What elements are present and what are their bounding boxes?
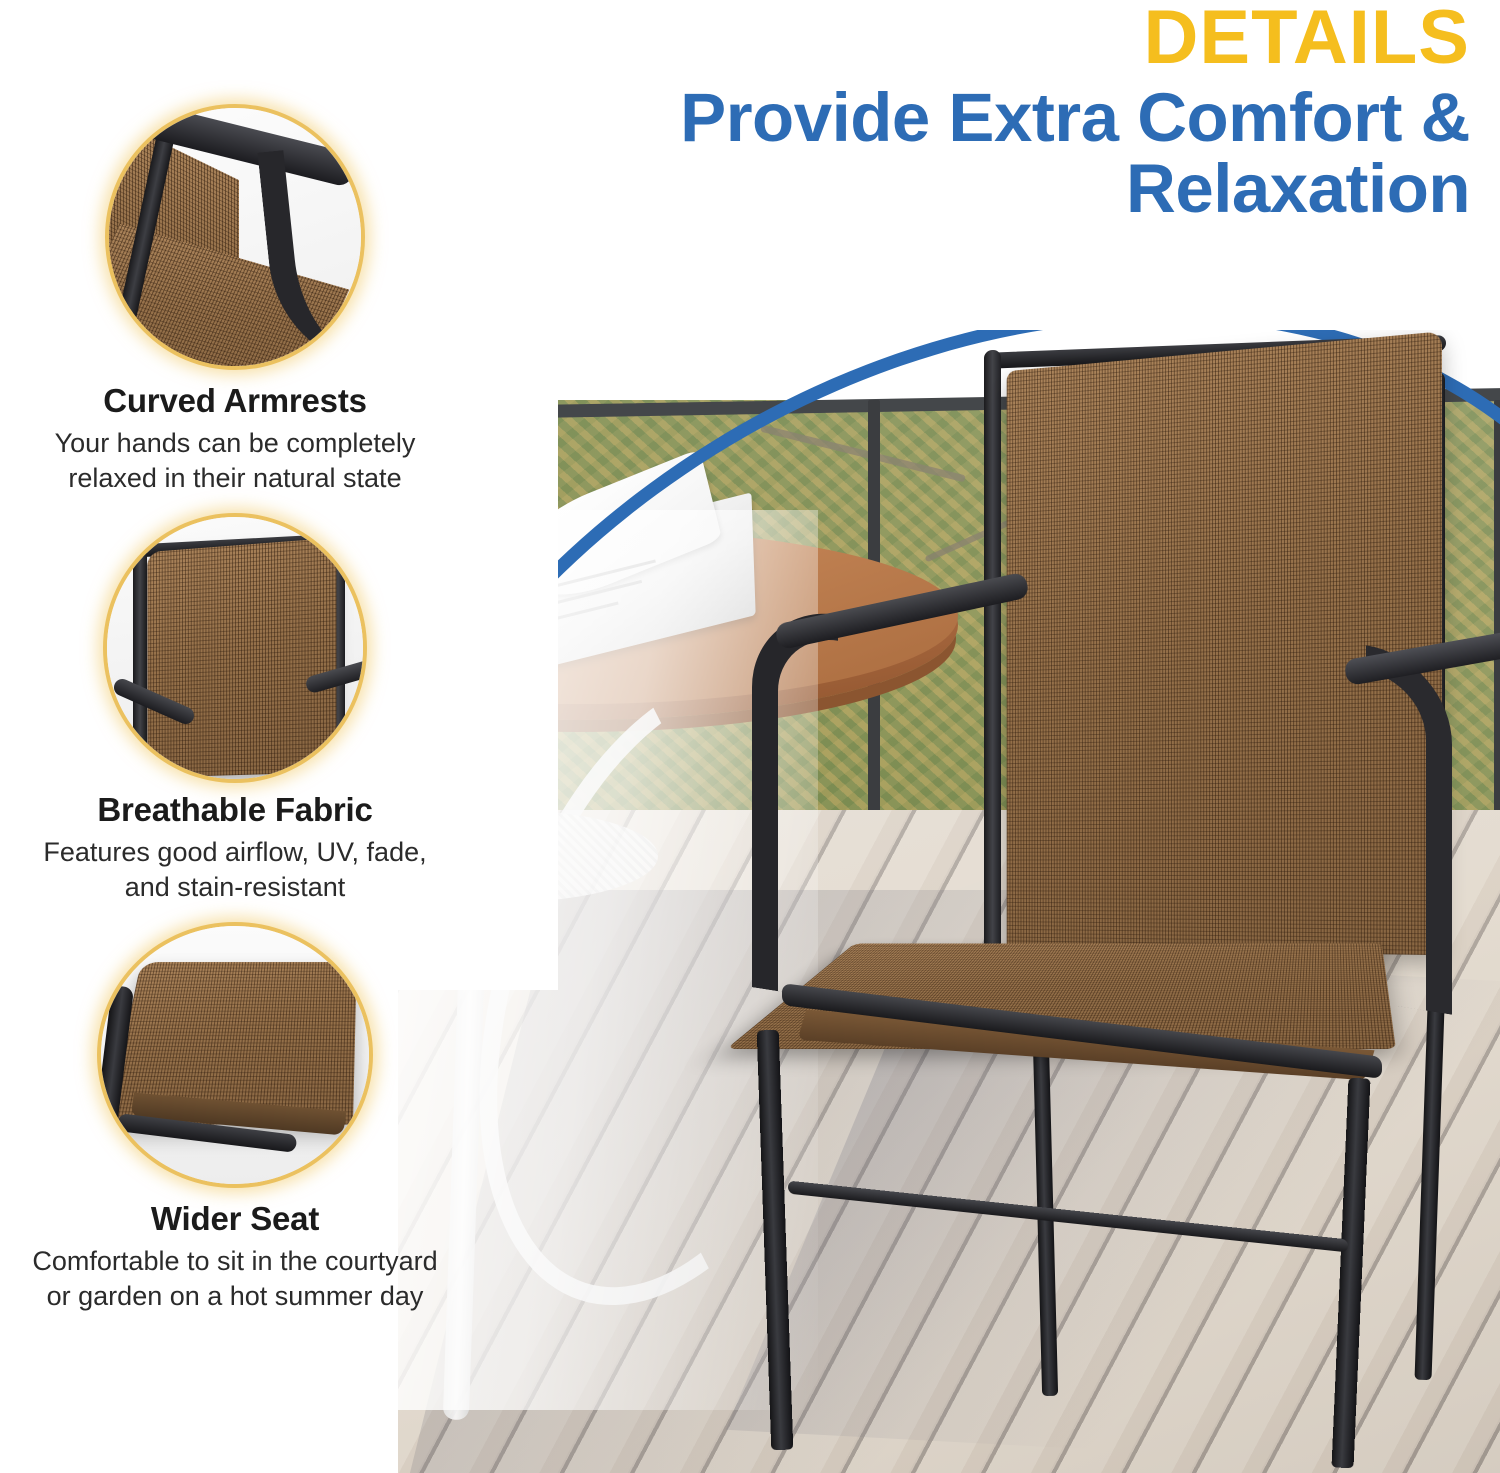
feature-description: Comfortable to sit in the courtyard or g…: [0, 1244, 470, 1313]
headline-line-2: Relaxation: [380, 153, 1470, 224]
headline-line-1: Provide Extra Comfort &: [380, 82, 1470, 153]
feature-title: Curved Armrests: [0, 382, 470, 420]
feature-title: Breathable Fabric: [0, 791, 470, 829]
feature-image-backrest: [103, 513, 367, 783]
feature-description: Your hands can be completely relaxed in …: [0, 426, 470, 495]
feature-desc-line-1: Your hands can be completely: [0, 426, 470, 461]
feature-desc-line-2: and stain-resistant: [0, 870, 470, 905]
product-photo: [398, 330, 1500, 1473]
feature-desc-line-1: Comfortable to sit in the courtyard: [0, 1244, 470, 1279]
feature-list: Curved Armrests Your hands can be comple…: [0, 104, 470, 1331]
header-block: DETAILS Provide Extra Comfort & Relaxati…: [380, 0, 1470, 224]
infographic-canvas: DETAILS Provide Extra Comfort & Relaxati…: [0, 0, 1500, 1473]
feature-image-seat: [97, 922, 373, 1188]
patio-chair: [678, 330, 1498, 1330]
armrest-left: [752, 601, 838, 1001]
page-title: Provide Extra Comfort & Relaxation: [380, 82, 1470, 224]
feature-item-wider-seat: Wider Seat Comfortable to sit in the cou…: [0, 922, 470, 1313]
feature-desc-line-2: relaxed in their natural state: [0, 461, 470, 496]
feature-item-breathable-fabric: Breathable Fabric Features good airflow,…: [0, 513, 470, 904]
feature-desc-line-1: Features good airflow, UV, fade,: [0, 835, 470, 870]
page-kicker: DETAILS: [380, 0, 1470, 74]
feature-title: Wider Seat: [0, 1200, 470, 1238]
feature-description: Features good airflow, UV, fade, and sta…: [0, 835, 470, 904]
feature-desc-line-2: or garden on a hot summer day: [0, 1279, 470, 1314]
feature-image-armrest: [105, 104, 365, 370]
